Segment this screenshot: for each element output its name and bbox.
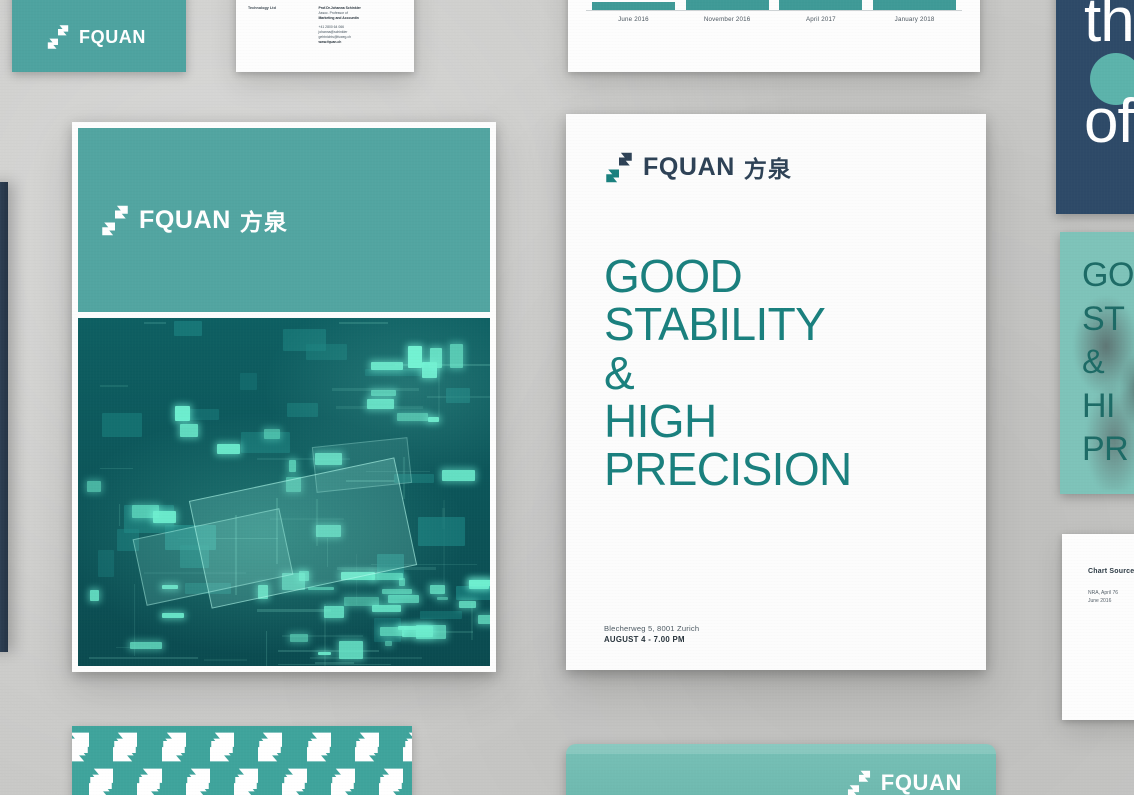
letterhead-teal-strip: FQUAN [12, 0, 186, 72]
folder-lip [566, 744, 996, 754]
chart-x-tick-labels: June 2016November 2016April 2017January … [586, 11, 962, 23]
chart-bar [779, 0, 862, 10]
fquan-wordmark: FQUAN [881, 770, 962, 795]
chart-bar-group [779, 0, 862, 10]
chart-bar [592, 2, 675, 10]
teal-poster-title-line-2: ST [1082, 298, 1134, 342]
fquan-wordmark: FQUAN [79, 27, 146, 48]
teal-poster: GOST&HIPR [1060, 232, 1134, 494]
teal-brochure-cover: FQUAN 方泉 [72, 122, 496, 672]
chart-source-title: Chart Source [1088, 568, 1134, 575]
bar-chart-plot: 11,90034,000 [586, 0, 962, 10]
fquan-wordmark: FQUAN [643, 153, 735, 182]
fquan-bolt-mark-icon [604, 151, 634, 184]
poster-address: Blecherweg 5, 8001 Zurich [604, 624, 952, 633]
chart-x-tick-label: June 2016 [592, 16, 675, 23]
fquan-chinese-name: 方泉 [240, 203, 288, 237]
poster-title-line-1: GOOD [604, 252, 952, 300]
chart-bar-group: 34,000 [686, 0, 769, 10]
poster-footer: Blecherweg 5, 8001 Zurich AUGUST 4 - 7.0… [604, 624, 952, 644]
fquan-bolt-mark-icon [100, 204, 130, 237]
logo-pattern-strip [72, 726, 412, 795]
poster-date: AUGUST 4 - 7.00 PM [604, 635, 952, 644]
navy-poster-line-2: of [1084, 93, 1134, 150]
teal-poster-title-line-3: & [1082, 341, 1134, 385]
fquan-bolt-mark-icon [397, 772, 412, 795]
photo-color-wash [78, 318, 490, 666]
teal-poster-title-line-1: GO [1082, 254, 1134, 298]
chart-bar-group: 11,900 [592, 0, 675, 10]
business-card-header: Technology Ltd [248, 6, 308, 10]
chart-bar-group [873, 0, 956, 10]
fquan-logo: FQUAN 方泉 [100, 203, 288, 237]
chart-source-line-1: NRA, April 76 [1088, 589, 1134, 597]
navy-poster: th of [1056, 0, 1134, 214]
circuit-board-photo [78, 318, 490, 666]
brochure-header-band: FQUAN 方泉 [78, 128, 490, 312]
chart-source-card: Chart Source NRA, April 76 June 2016 [1062, 534, 1134, 720]
fquan-wordmark: FQUAN [139, 206, 231, 235]
chart-x-tick-label: April 2017 [779, 16, 862, 23]
good-stability-poster: FQUAN 方泉 GOODSTABILITY&HIGHPRECISION Ble… [566, 114, 986, 670]
fquan-logo: FQUAN [846, 769, 962, 795]
poster-title-line-5: PRECISION [604, 445, 952, 493]
chart-bar [873, 0, 956, 10]
chart-x-tick-label: November 2016 [686, 16, 769, 23]
poster-title: GOODSTABILITY&HIGHPRECISION [604, 252, 952, 493]
navy-poster-line-1: th [1084, 0, 1134, 49]
fquan-bolt-mark-icon [846, 769, 872, 795]
poster-title-line-4: HIGH [604, 397, 952, 445]
fquan-logo: FQUAN 方泉 [604, 150, 792, 184]
fquan-bolt-mark-icon [46, 24, 70, 50]
teal-poster-title-line-5: PR [1082, 428, 1134, 472]
left-edge-dark-panel [0, 182, 8, 652]
teal-poster-title-line-4: HI [1082, 385, 1134, 429]
teal-presentation-folder: FQUAN [566, 744, 996, 795]
teal-poster-title: GOST&HIPR [1060, 232, 1134, 472]
bar-chart-card: 11,90034,000 June 2016November 2016April… [568, 0, 980, 72]
chart-bar [686, 0, 769, 10]
business-card: Technology Ltd Prof.Dr.Johanna Schinkler… [236, 0, 414, 72]
chart-source-line-2: June 2016 [1088, 597, 1134, 605]
business-card-web: www.fquan.ch [318, 40, 402, 45]
poster-title-line-2: STABILITY [604, 300, 952, 348]
fquan-logo: FQUAN [46, 24, 146, 50]
poster-title-line-3: & [604, 349, 952, 397]
fquan-chinese-name: 方泉 [744, 150, 792, 184]
chart-x-tick-label: January 2018 [873, 16, 956, 23]
